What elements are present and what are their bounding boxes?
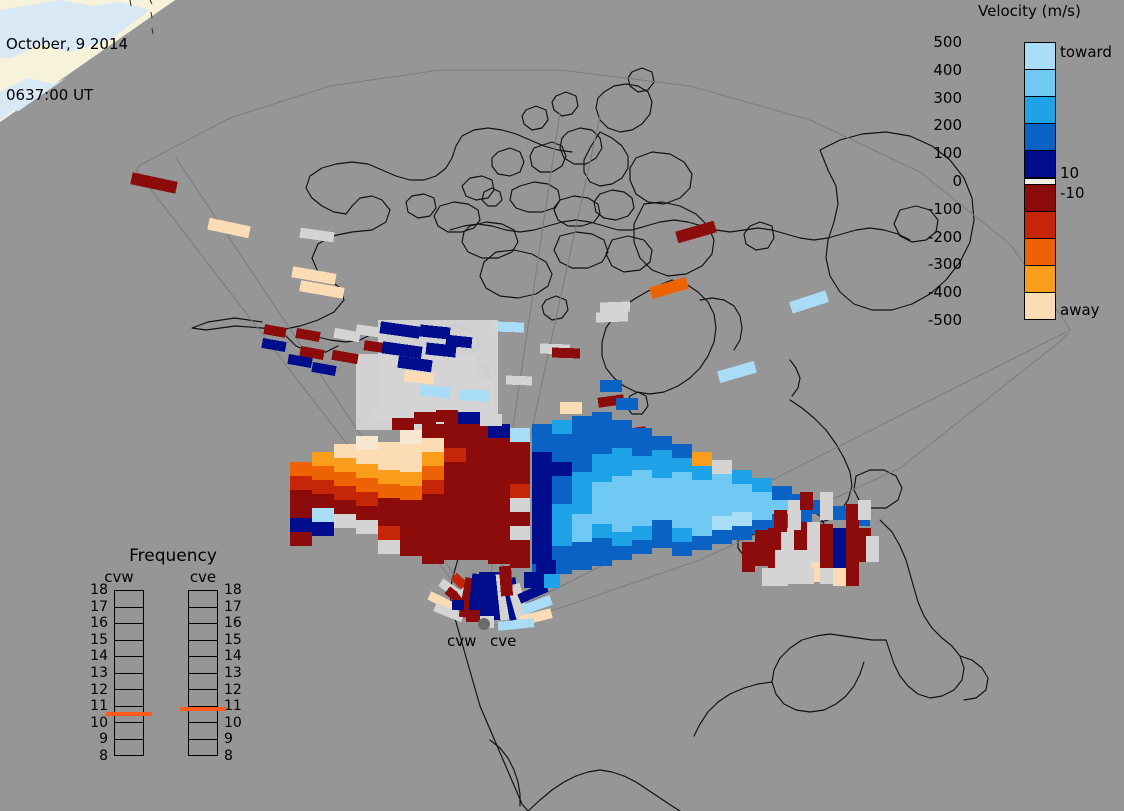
frequency-bar-cve [188, 590, 218, 756]
frequency-bar-cell [189, 591, 217, 608]
frequency-axis-label: 10 [90, 715, 108, 731]
frequency-bar-cell [115, 723, 143, 740]
velocity-tick-label: -100 [928, 200, 962, 218]
velocity-colorbar-segment [1025, 97, 1055, 124]
velocity-colorbar-segment [1025, 70, 1055, 97]
velocity-zero-upper-label: 10 [1060, 164, 1079, 182]
velocity-tick-label: -400 [928, 283, 962, 301]
frequency-axis-label: 17 [224, 599, 242, 615]
frequency-marker-cvw [106, 712, 152, 716]
frequency-axis-label: 17 [90, 599, 108, 615]
velocity-tick-label: 400 [933, 61, 962, 79]
frequency-bar-cell [115, 657, 143, 674]
frequency-bar-cell [115, 740, 143, 756]
velocity-tick-label: 100 [933, 144, 962, 162]
frequency-axis-label: 16 [90, 615, 108, 631]
velocity-colorbar-segment [1025, 293, 1055, 319]
velocity-tick-labels: 5004003002001000-100-200-300-400-500 [910, 42, 962, 320]
velocity-side-labels: toward10-10away [1060, 42, 1124, 320]
velocity-legend-title: Velocity (m/s) [978, 2, 1124, 20]
frequency-bar-cell [189, 624, 217, 641]
frequency-bar-cell [115, 674, 143, 691]
frequency-axis-label: 18 [90, 582, 108, 598]
velocity-map-canvas: October, 9 2014 0637:00 UT Velocity (m/s… [0, 0, 1124, 811]
frequency-bar-cell [189, 657, 217, 674]
frequency-panel: Frequency cvw 18171615141312111098 cve 1… [88, 546, 258, 786]
frequency-axis-label: 15 [224, 632, 242, 648]
frequency-axis-label: 13 [90, 665, 108, 681]
velocity-colorbar [1024, 42, 1056, 320]
station-label-cve: cve [490, 632, 516, 650]
velocity-colorbar-segment [1025, 239, 1055, 266]
frequency-labels-cve: 18171615141312111098 [220, 590, 246, 756]
frequency-column-cve: cve 18171615141312111098 [172, 568, 246, 783]
frequency-axis-label: 14 [90, 648, 108, 664]
frequency-bar-cell [189, 740, 217, 756]
velocity-tick-label: 300 [933, 89, 962, 107]
velocity-zero-lower-label: -10 [1060, 184, 1085, 202]
frequency-axis-label: 8 [99, 748, 108, 764]
frequency-bar-cell [189, 608, 217, 625]
timestamp-date: October, 9 2014 [6, 36, 128, 53]
frequency-column-cvw: cvw 18171615141312111098 [88, 568, 162, 783]
frequency-axis-label: 8 [224, 748, 233, 764]
velocity-colorbar-segment [1025, 124, 1055, 151]
frequency-bar-cell [189, 690, 217, 707]
frequency-axis-label: 11 [224, 698, 242, 714]
frequency-axis-label: 9 [224, 731, 233, 747]
timestamp-block: October, 9 2014 0637:00 UT [6, 2, 128, 138]
velocity-toward-label: toward [1060, 43, 1112, 61]
velocity-colorbar-zero-band [1025, 178, 1055, 185]
velocity-tick-label: 0 [952, 172, 962, 190]
frequency-bar-cvw [114, 590, 144, 756]
frequency-axis-label: 12 [90, 682, 108, 698]
frequency-bar-cell [115, 690, 143, 707]
velocity-tick-label: -200 [928, 228, 962, 246]
frequency-axis-label: 16 [224, 615, 242, 631]
radar-site-marker [478, 618, 490, 630]
frequency-axis-label: 13 [224, 665, 242, 681]
frequency-bar-cell [189, 674, 217, 691]
frequency-axis-label: 15 [90, 632, 108, 648]
frequency-panel-title: Frequency [88, 546, 258, 566]
velocity-tick-label: -500 [928, 311, 962, 329]
station-label-cvw: cvw [447, 632, 476, 650]
velocity-colorbar-segment [1025, 212, 1055, 239]
frequency-axis-label: 10 [224, 715, 242, 731]
velocity-tick-label: 500 [933, 33, 962, 51]
frequency-labels-cvw: 18171615141312111098 [84, 590, 110, 756]
frequency-marker-cve [180, 707, 226, 711]
frequency-bar-cell [115, 641, 143, 658]
velocity-away-label: away [1060, 301, 1100, 319]
velocity-tick-label: 200 [933, 116, 962, 134]
timestamp-time: 0637:00 UT [6, 87, 128, 104]
frequency-bar-cell [189, 641, 217, 658]
velocity-legend: Velocity (m/s) 5004003002001000-100-200-… [968, 0, 1124, 340]
frequency-bar-cell [189, 723, 217, 740]
frequency-bar-cell [115, 608, 143, 625]
frequency-bar-cell [115, 591, 143, 608]
frequency-axis-label: 12 [224, 682, 242, 698]
velocity-colorbar-segment [1025, 185, 1055, 212]
velocity-tick-label: -300 [928, 255, 962, 273]
frequency-bar-cell [115, 624, 143, 641]
velocity-colorbar-segment [1025, 151, 1055, 178]
frequency-axis-label: 18 [224, 582, 242, 598]
frequency-axis-label: 9 [99, 731, 108, 747]
velocity-colorbar-segment [1025, 266, 1055, 293]
velocity-colorbar-segment [1025, 43, 1055, 70]
frequency-axis-label: 14 [224, 648, 242, 664]
